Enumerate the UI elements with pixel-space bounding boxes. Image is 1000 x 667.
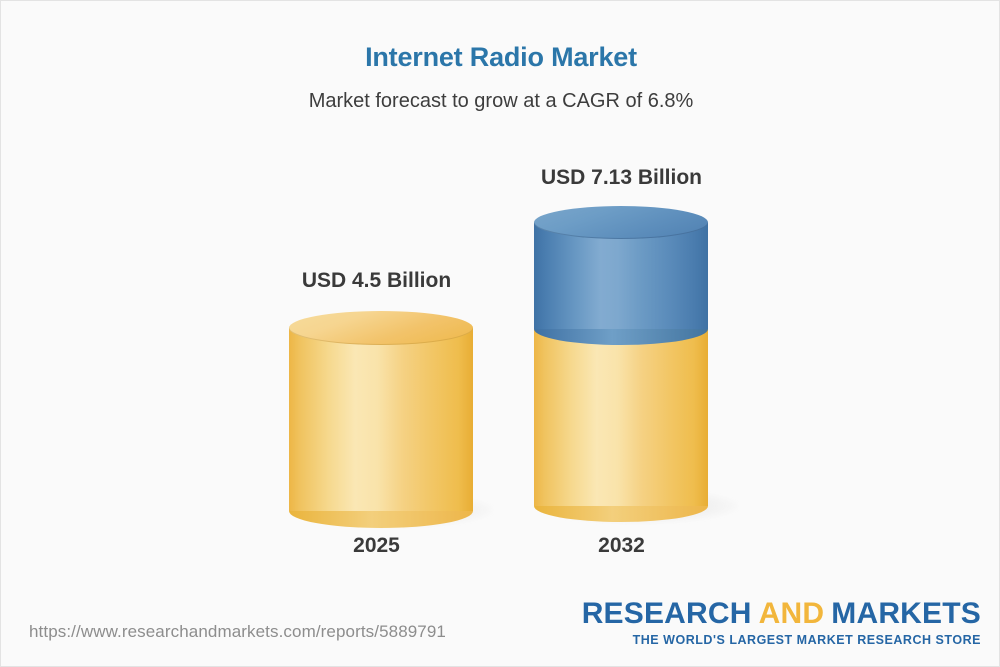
source-url-link[interactable]: https://www.researchandmarkets.com/repor… [29,622,446,642]
brand-word-markets: MARKETS [831,597,981,630]
brand-wordmark: RESEARCHANDMARKETS [582,599,981,630]
bar-growth-top-ellipse-2032 [534,206,708,239]
chart-canvas: Internet Radio Market Market forecast to… [0,0,1000,667]
brand-word-research: RESEARCH [582,597,752,630]
brand-tagline: THE WORLD'S LARGEST MARKET RESEARCH STOR… [582,633,981,647]
brand-logo[interactable]: RESEARCHANDMARKETS THE WORLD'S LARGEST M… [582,599,981,647]
bar-body-2025 [289,328,473,511]
bar-value-label-2032: USD 7.13 Billion [494,166,749,190]
bar-value-label-2025: USD 4.5 Billion [249,269,504,293]
plot-area: USD 4.5 Billion 2025 USD 7.13 Billion [1,1,999,666]
brand-word-and: AND [759,597,825,630]
bar-top-ellipse-2025 [289,311,473,345]
bar-category-label-2025: 2025 [249,534,504,558]
bar-base-body-2032 [534,329,708,506]
bar-category-label-2032: 2032 [494,534,749,558]
